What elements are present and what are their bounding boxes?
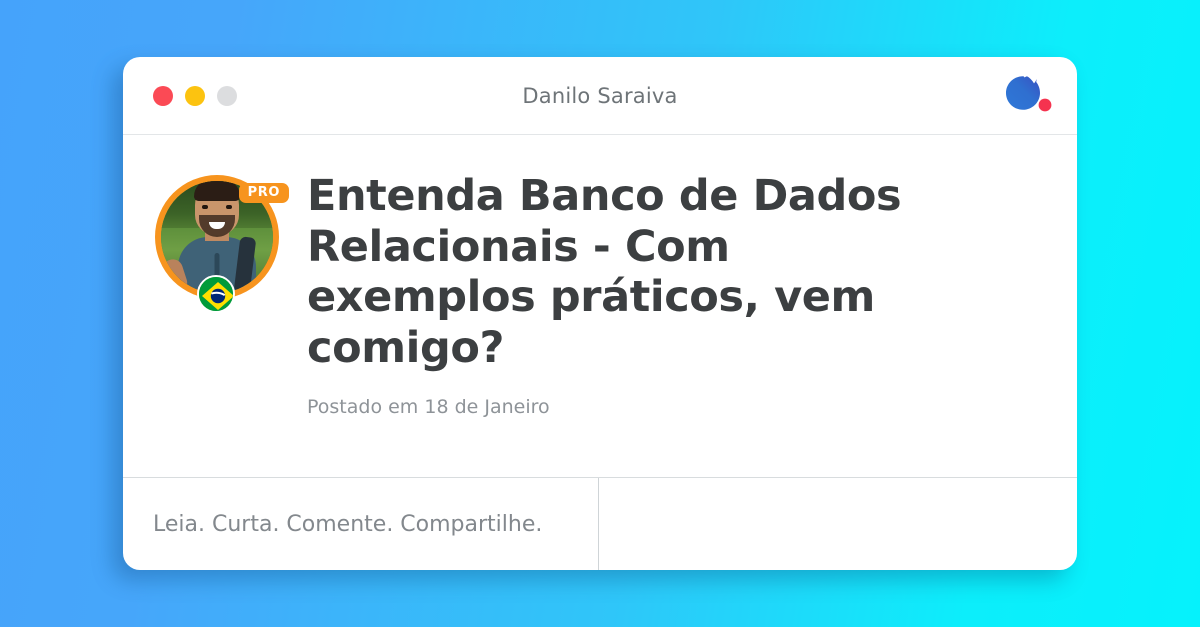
post-text-block: Entenda Banco de Dados Relacionais - Com… [307, 169, 1047, 477]
post-card: Danilo Saraiva [123, 57, 1077, 570]
pro-badge: PRO [239, 183, 289, 203]
window-controls [153, 86, 237, 106]
post-date: Postado em 18 de Janeiro [307, 396, 1047, 418]
close-button-icon[interactable] [153, 86, 173, 106]
avatar-photo-hair [194, 181, 240, 201]
footer-right-cell [599, 478, 1077, 570]
footer-tagline: Leia. Curta. Comente. Compartilhe. [153, 512, 542, 537]
avatar-photo-eye-left [202, 205, 208, 209]
author-avatar-block: PRO [155, 175, 283, 315]
window-title: Danilo Saraiva [123, 84, 1077, 108]
brazil-flag-icon [197, 275, 235, 313]
avatar-photo-eye-right [226, 205, 232, 209]
maximize-button-icon[interactable] [217, 86, 237, 106]
page-title: Entenda Banco de Dados Relacionais - Com… [307, 171, 967, 374]
window-titlebar: Danilo Saraiva [123, 57, 1077, 135]
post-footer: Leia. Curta. Comente. Compartilhe. [123, 478, 1077, 570]
post-body: PRO Entenda Banco de Dados Relacionais -… [123, 135, 1077, 478]
footer-left-cell: Leia. Curta. Comente. Compartilhe. [123, 478, 599, 570]
brand-logo-icon [993, 71, 1055, 121]
minimize-button-icon[interactable] [185, 86, 205, 106]
